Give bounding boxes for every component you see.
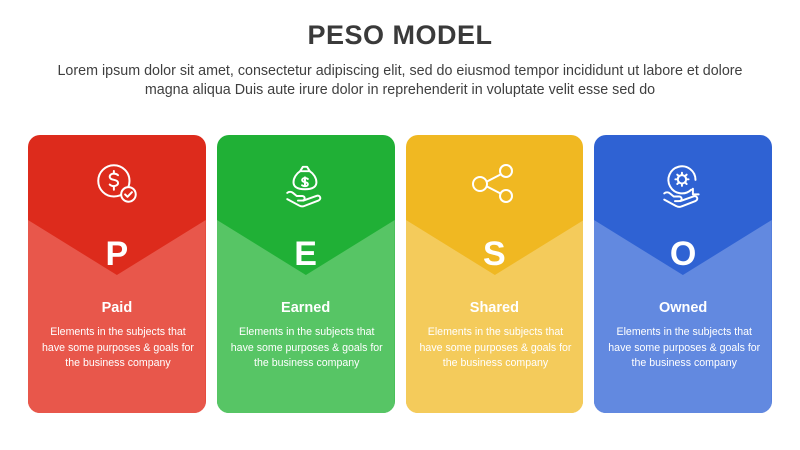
- card-letter: E: [217, 235, 395, 274]
- money-bag-hand-icon: [217, 153, 395, 215]
- peso-model-infographic: PESO MODEL Lorem ipsum dolor sit amet, c…: [0, 0, 800, 450]
- card-owned[interactable]: O Owned Elements in the subjects that ha…: [594, 135, 772, 413]
- card-title: Owned: [594, 300, 772, 316]
- card-shared[interactable]: S Shared Elements in the subjects that h…: [406, 135, 584, 413]
- dollar-badge-icon: [28, 153, 206, 215]
- card-description: Elements in the subjects that have some …: [38, 325, 198, 372]
- page-subtitle: Lorem ipsum dolor sit amet, consectetur …: [36, 62, 764, 100]
- card-earned[interactable]: E Earned Elements in the subjects that h…: [217, 135, 395, 413]
- card-description: Elements in the subjects that have some …: [604, 325, 764, 372]
- card-letter: O: [594, 235, 772, 274]
- card-description: Elements in the subjects that have some …: [416, 325, 576, 372]
- card-list: P Paid Elements in the subjects that hav…: [28, 135, 772, 413]
- card-description: Elements in the subjects that have some …: [227, 325, 387, 372]
- card-paid[interactable]: P Paid Elements in the subjects that hav…: [28, 135, 206, 413]
- card-title: Shared: [406, 300, 584, 316]
- card-title: Earned: [217, 300, 395, 316]
- page-title: PESO MODEL: [0, 20, 800, 51]
- card-letter: P: [28, 235, 206, 274]
- card-letter: S: [406, 235, 584, 274]
- gear-hand-icon: [594, 153, 772, 215]
- share-network-icon: [406, 153, 584, 215]
- card-title: Paid: [28, 300, 206, 316]
